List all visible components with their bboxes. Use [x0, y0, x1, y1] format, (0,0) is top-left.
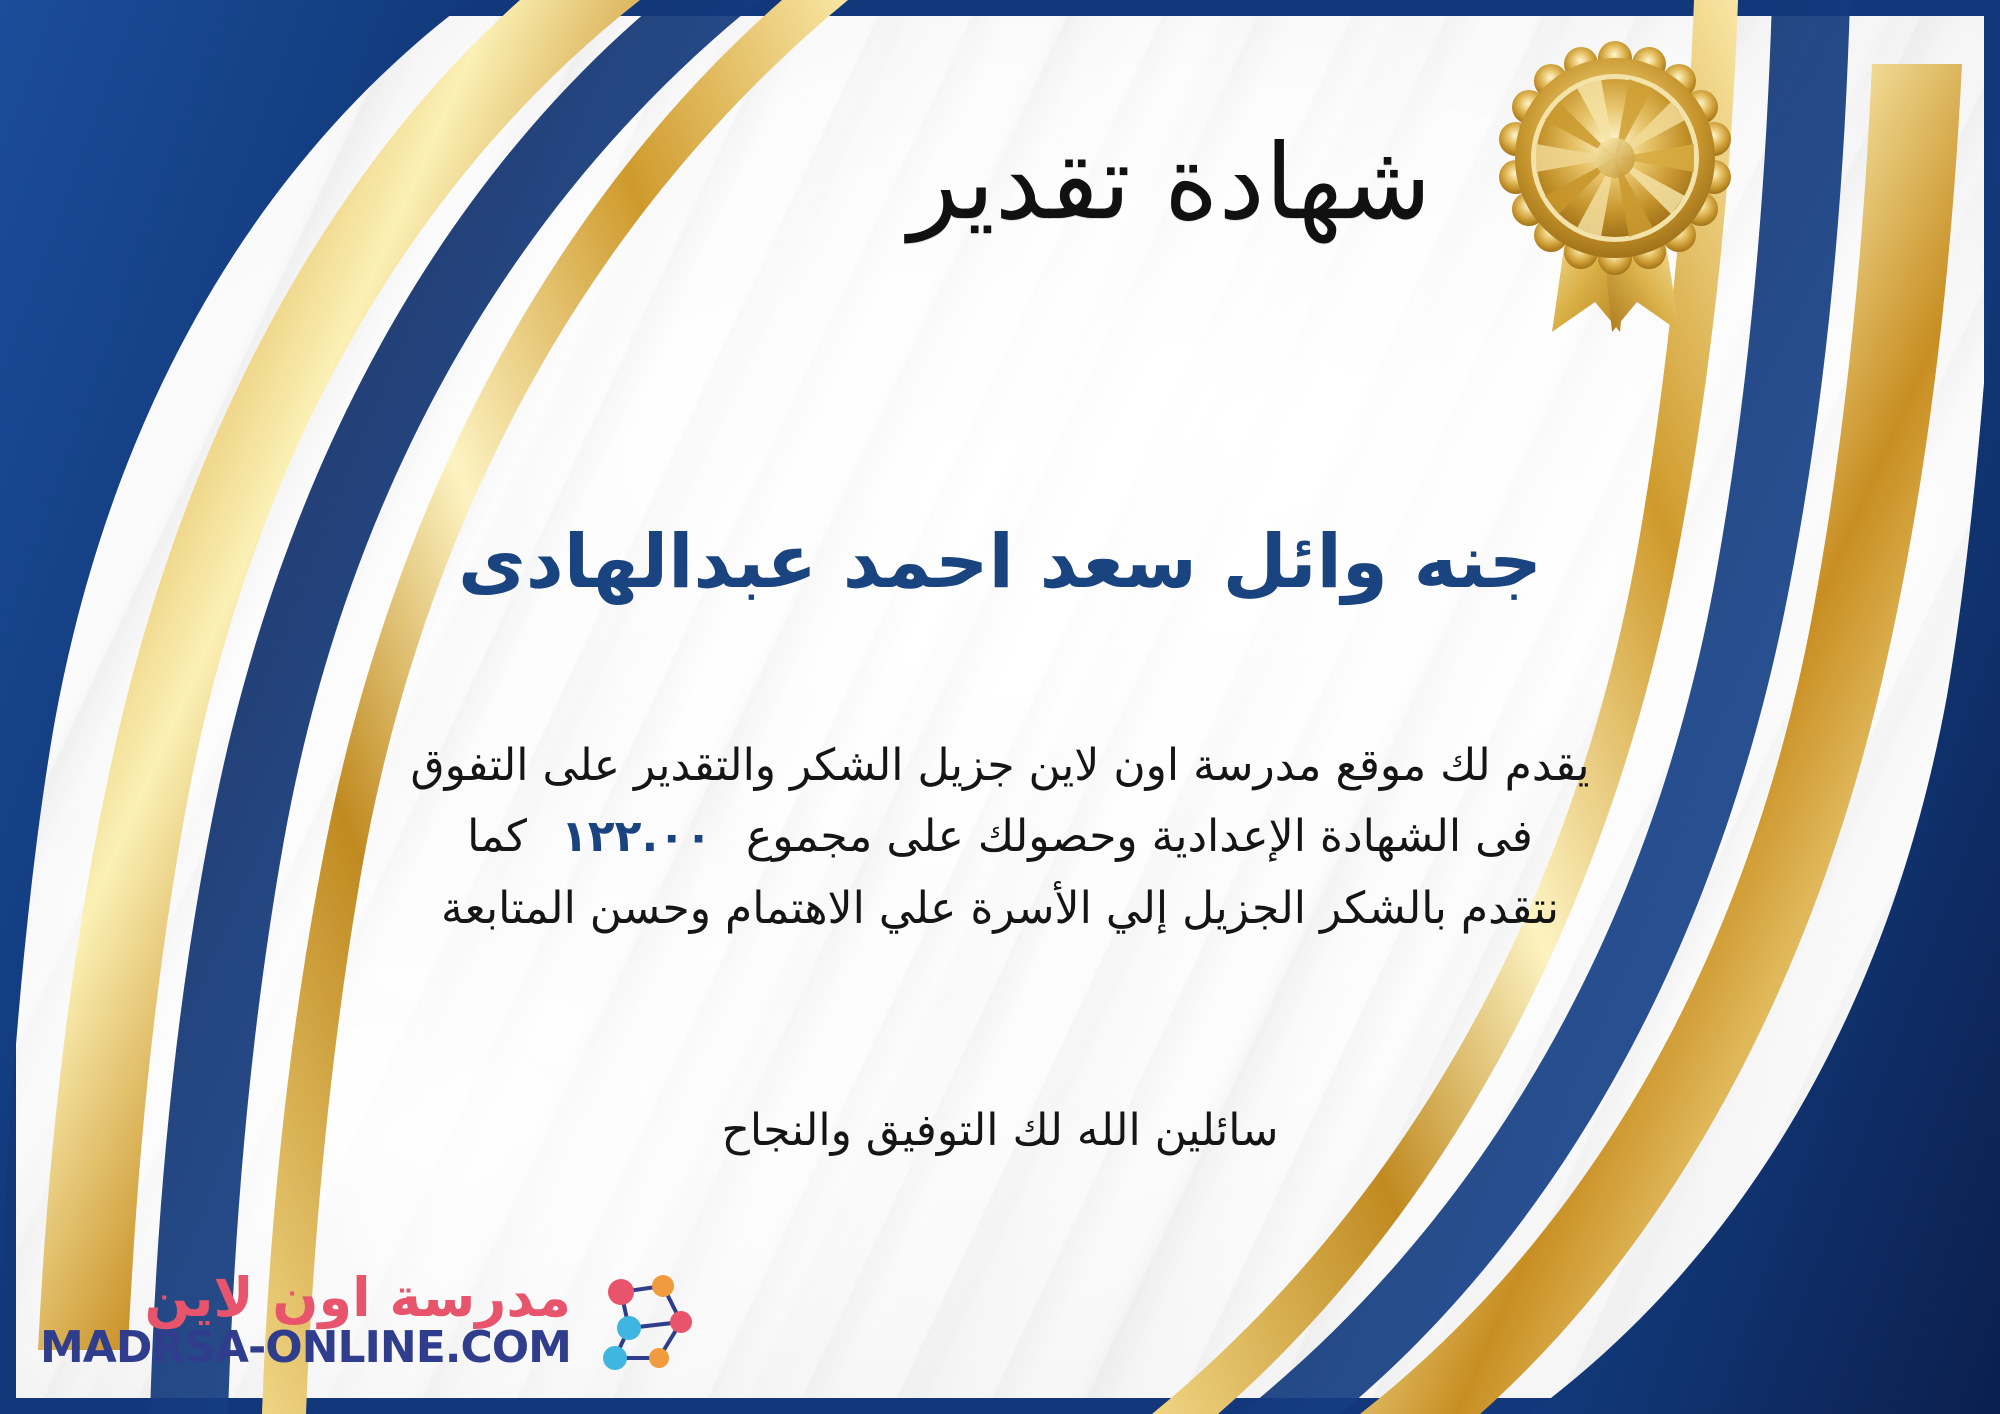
- brand-logo-text: مدرسة اون لاين MADRSA-ONLINE.COM: [40, 1270, 571, 1371]
- body-line-1: يقدم لك موقع مدرسة اون لاين جزيل الشكر و…: [95, 730, 1905, 801]
- body-line-2: فى الشهادة الإعدادية وحصولك على مجموع١٢٢…: [95, 801, 1905, 872]
- certificate-title: شهادة تقدير: [760, 128, 1580, 237]
- brand-name-english: MADRSA-ONLINE.COM: [40, 1325, 571, 1371]
- certificate-content: شهادة تقدير جنه وائل سعد احمد عبدالهادى …: [0, 0, 2000, 1414]
- grade-value: ١٢٢.٠٠: [527, 811, 746, 862]
- brand-logo[interactable]: مدرسة اون لاين MADRSA-ONLINE.COM: [40, 1266, 705, 1376]
- network-nodes-icon: [585, 1266, 705, 1376]
- certificate-canvas: شهادة تقدير جنه وائل سعد احمد عبدالهادى …: [0, 0, 2000, 1414]
- brand-name-arabic: مدرسة اون لاين: [145, 1270, 571, 1325]
- certificate-body: يقدم لك موقع مدرسة اون لاين جزيل الشكر و…: [95, 730, 1905, 944]
- body-line-2-left: كما: [467, 811, 527, 862]
- recipient-name: جنه وائل سعد احمد عبدالهادى: [0, 520, 2000, 605]
- body-line-3: نتقدم بالشكر الجزيل إلي الأسرة علي الاهت…: [95, 873, 1905, 944]
- body-line-2-right: فى الشهادة الإعدادية وحصولك على مجموع: [746, 811, 1533, 862]
- closing-line: سائلين الله لك التوفيق والنجاح: [0, 1105, 2000, 1156]
